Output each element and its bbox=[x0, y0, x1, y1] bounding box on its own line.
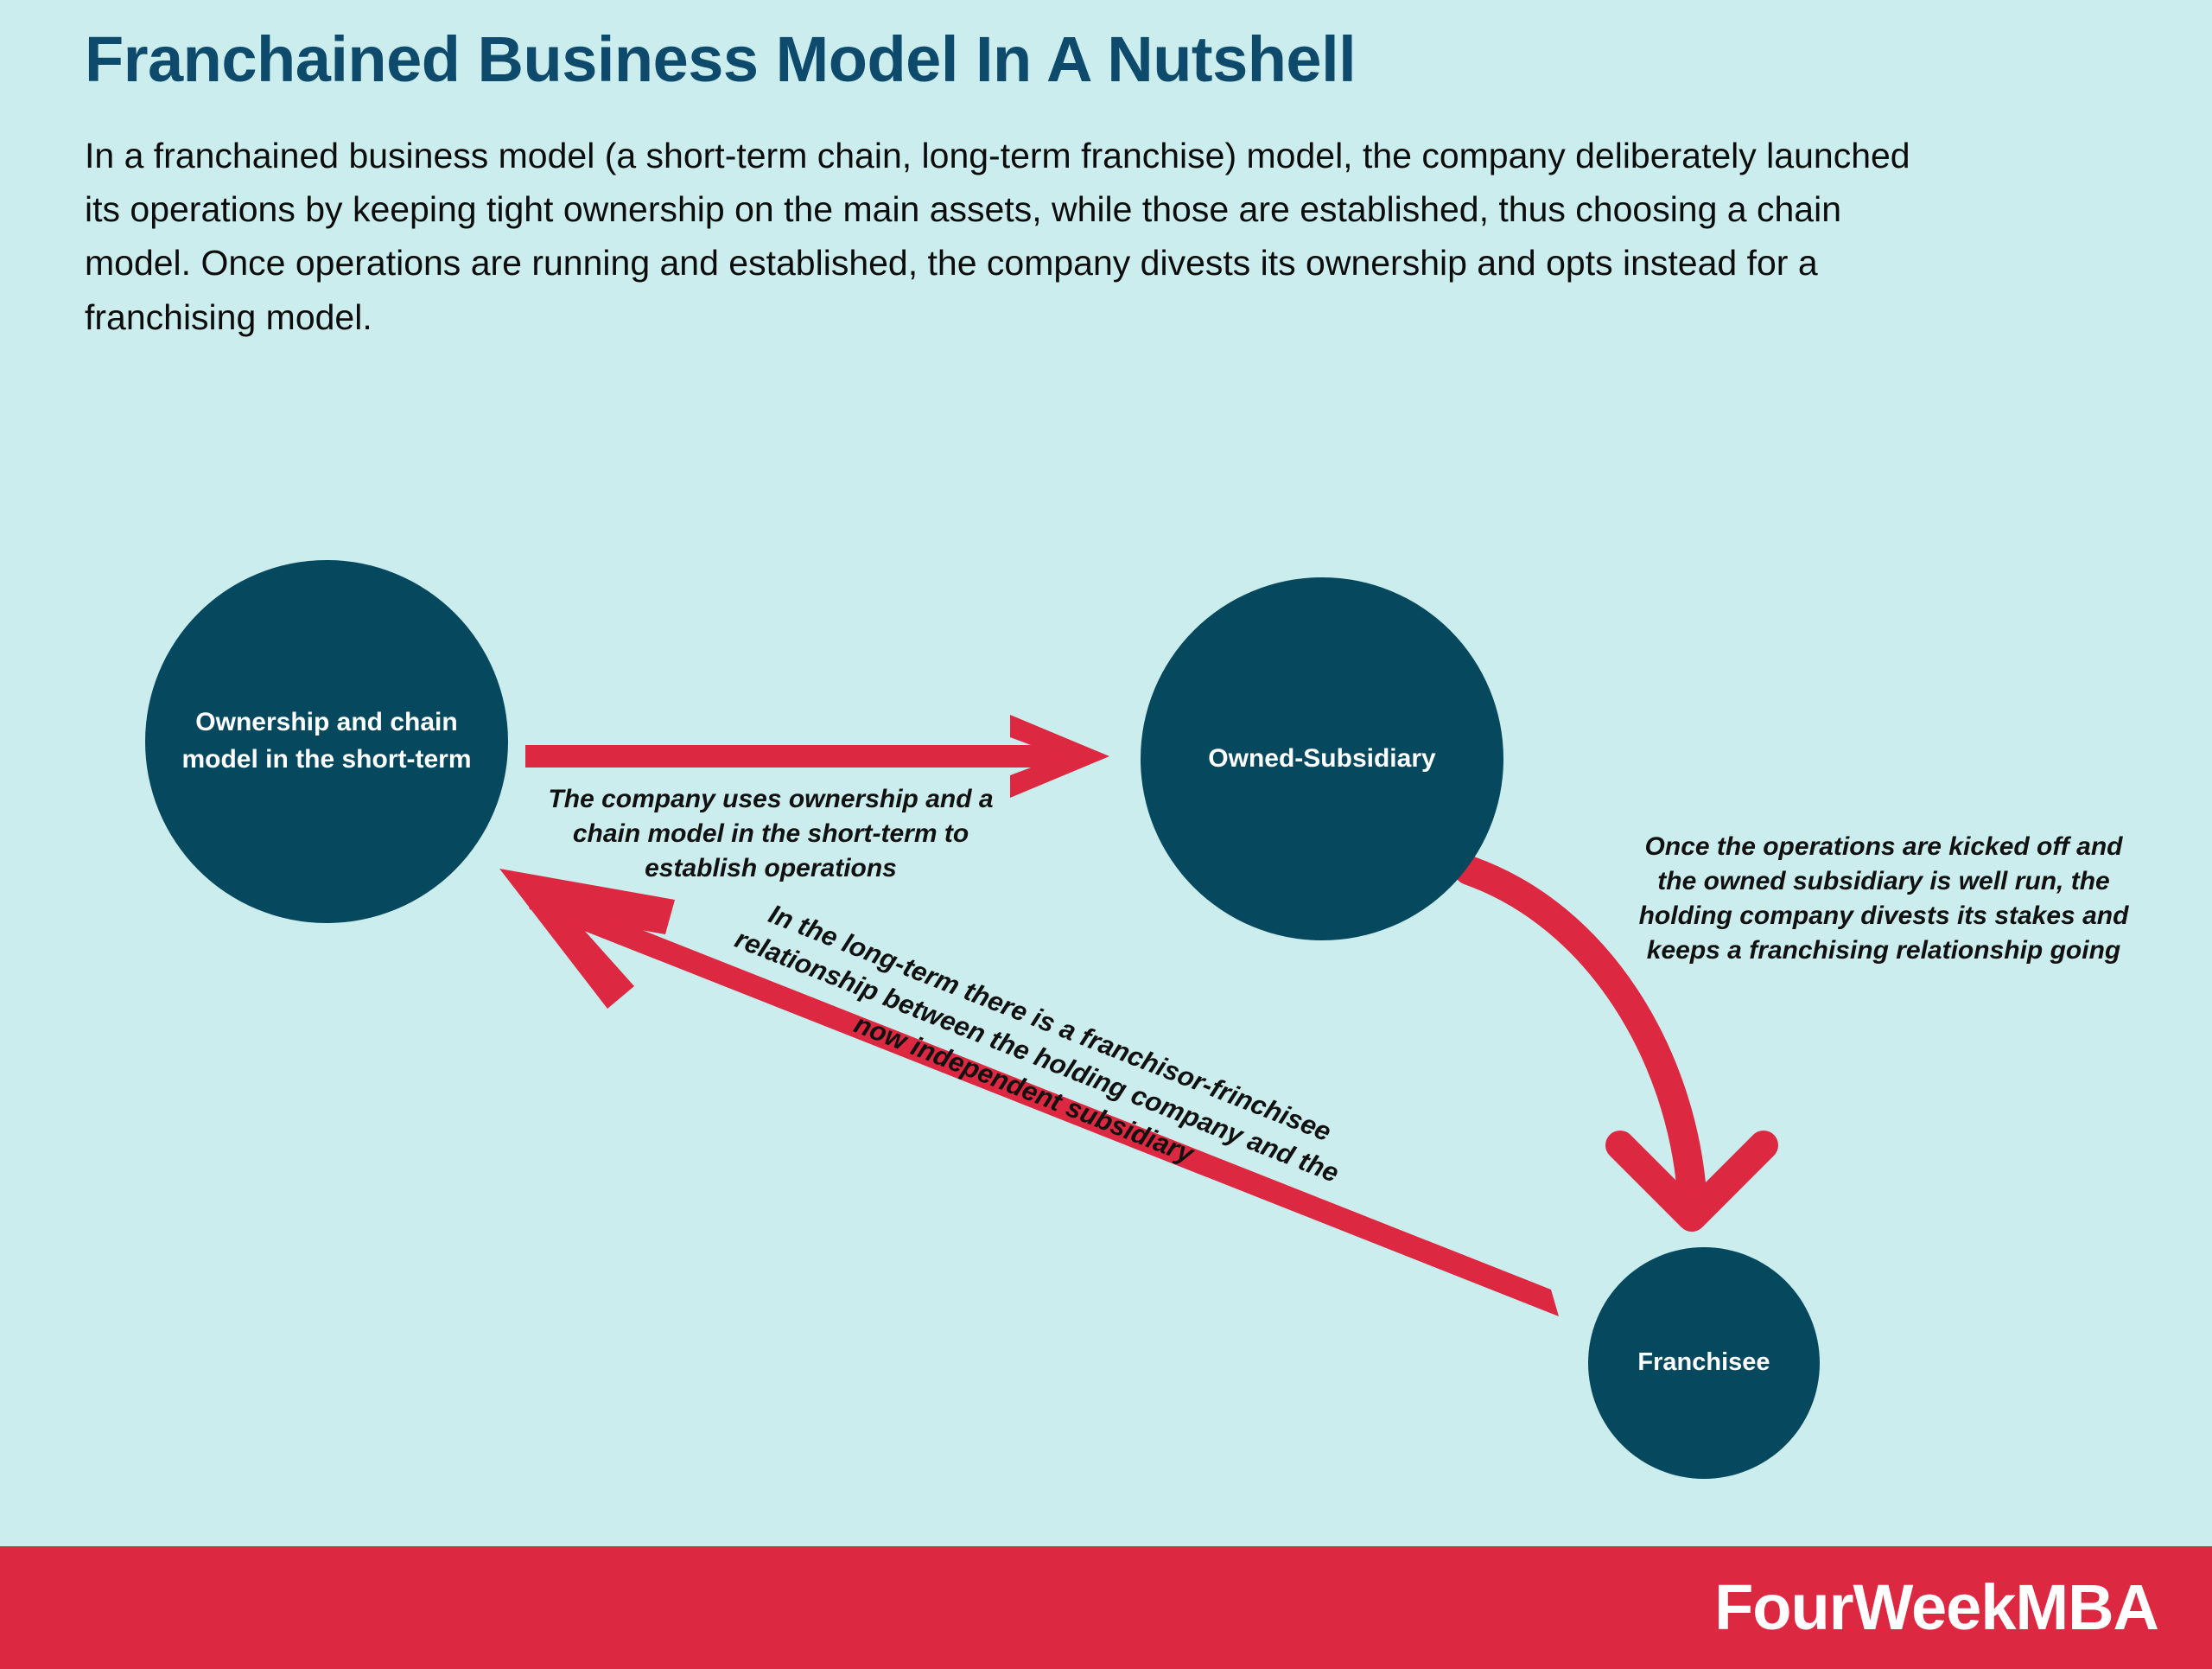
node-franchisee[interactable]: Franchisee bbox=[1588, 1247, 1820, 1479]
brand-logo: FourWeekMBA bbox=[1714, 1576, 2158, 1640]
footer-bar: FourWeekMBA bbox=[0, 1546, 2212, 1669]
node-owned-subsidiary-label: Owned-Subsidiary bbox=[1196, 741, 1447, 778]
node-franchisee-label: Franchisee bbox=[1625, 1345, 1782, 1380]
intro-paragraph: In a franchained business model (a short… bbox=[85, 129, 1925, 344]
node-ownership-label: Ownership and chain model in the short-t… bbox=[145, 704, 508, 778]
page-title: Franchained Business Model In A Nutshell bbox=[85, 26, 2072, 93]
edge-label-subsidiary-to-franchisee: Once the operations are kicked off and t… bbox=[1624, 830, 2143, 968]
header: Franchained Business Model In A Nutshell… bbox=[85, 26, 2072, 379]
node-owned-subsidiary[interactable]: Owned-Subsidiary bbox=[1141, 577, 1503, 940]
infographic-page: Franchained Business Model In A Nutshell… bbox=[0, 0, 2212, 1669]
node-ownership[interactable]: Ownership and chain model in the short-t… bbox=[145, 560, 508, 923]
edge-label-ownership-to-subsidiary: The company uses ownership and a chain m… bbox=[529, 782, 1013, 886]
